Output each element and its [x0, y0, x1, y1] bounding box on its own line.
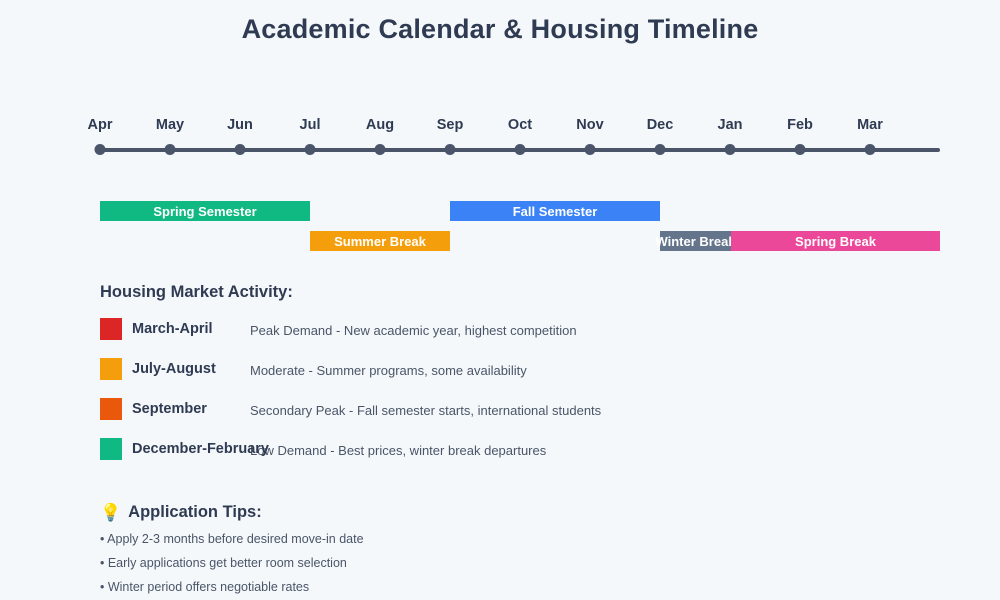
activity-color-swatch	[100, 398, 122, 420]
activity-color-swatch	[100, 358, 122, 380]
housing-heading: Housing Market Activity:	[100, 283, 960, 302]
period-bar-summer-break[interactable]: Summer Break	[310, 231, 450, 251]
housing-market-activity: Housing Market Activity: Peak Demand - N…	[100, 283, 960, 302]
tip-item: • Early applications get better room sel…	[100, 556, 960, 570]
period-bar-spring-break[interactable]: Spring Break	[731, 231, 940, 251]
period-bar-fall-semester[interactable]: Fall Semester	[450, 201, 660, 221]
tip-item: • Winter period offers negotiable rates	[100, 580, 960, 594]
period-bar-label: Spring Semester	[153, 205, 256, 218]
period-bars: Spring SemesterFall SemesterSummer Break…	[0, 0, 1000, 260]
activity-color-swatch	[100, 438, 122, 460]
period-bar-label: Fall Semester	[513, 205, 598, 218]
activity-description: Peak Demand - New academic year, highest…	[250, 323, 577, 338]
tips-list: • Apply 2-3 months before desired move-i…	[100, 532, 960, 594]
activity-description: Moderate - Summer programs, some availab…	[250, 363, 527, 378]
period-bar-label: Summer Break	[334, 235, 426, 248]
activity-description: Low Demand - Best prices, winter break d…	[250, 443, 546, 458]
activity-period-label: December-February	[132, 441, 269, 457]
period-bar-spring-semester[interactable]: Spring Semester	[100, 201, 310, 221]
period-bar-label: Spring Break	[795, 235, 876, 248]
tips-heading: 💡 Application Tips:	[100, 503, 960, 522]
activity-period-label: July-August	[132, 361, 216, 377]
period-bar-label: Winter Break	[655, 235, 735, 248]
activity-description: Secondary Peak - Fall semester starts, i…	[250, 403, 601, 418]
activity-period-label: September	[132, 401, 207, 417]
activity-color-swatch	[100, 318, 122, 340]
activity-period-label: March-April	[132, 321, 213, 337]
application-tips: 💡 Application Tips: • Apply 2-3 months b…	[100, 503, 960, 594]
period-bar-winter-break[interactable]: Winter Break	[660, 231, 731, 251]
tips-heading-label: Application Tips:	[128, 503, 262, 522]
lightbulb-icon: 💡	[100, 504, 121, 521]
tip-item: • Apply 2-3 months before desired move-i…	[100, 532, 960, 546]
